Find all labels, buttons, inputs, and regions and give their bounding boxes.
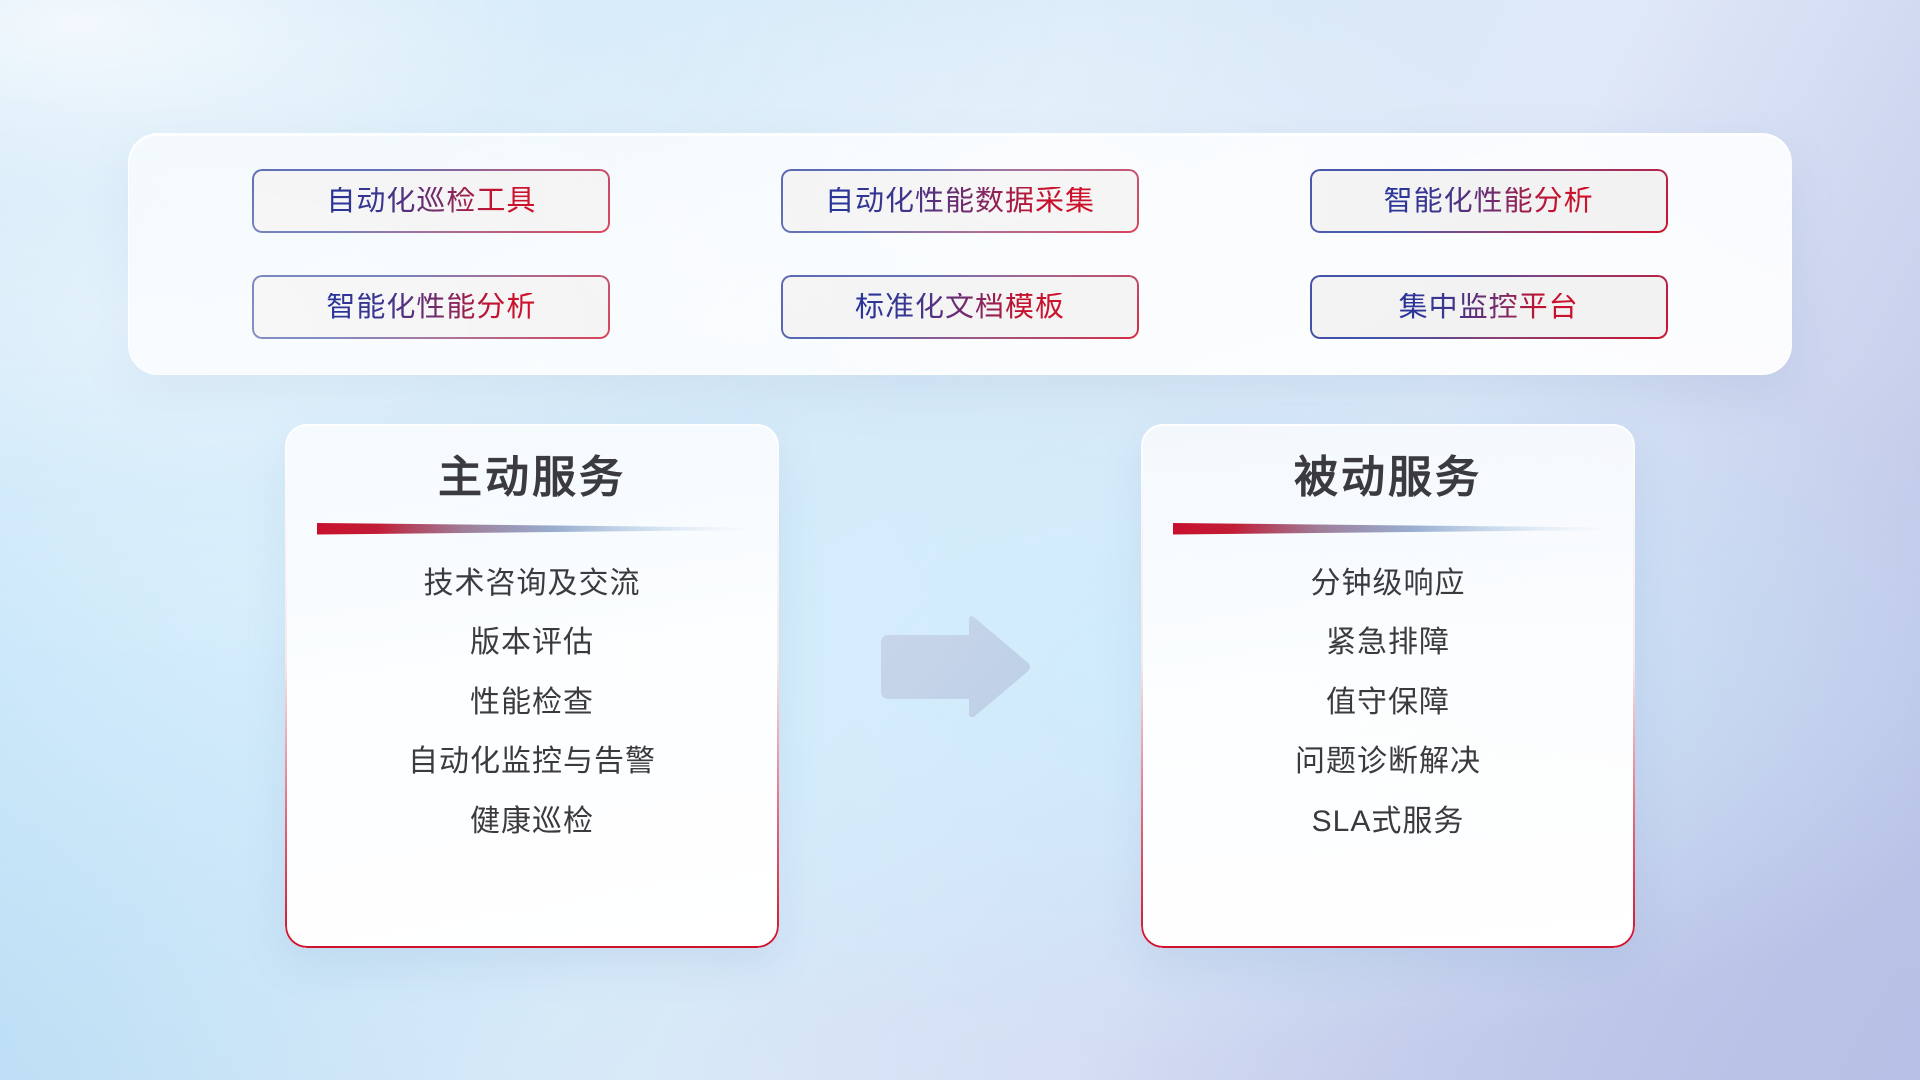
service-list: 分钟级响应 紧急排障 值守保障 问题诊断解决 SLA式服务	[1141, 565, 1635, 841]
panel-reactive-service: 被动服务	[1141, 424, 1635, 948]
flow-arrow-icon	[873, 613, 1033, 717]
list-item: 值守保障	[1326, 684, 1450, 722]
list-item: 技术咨询及交流	[424, 565, 641, 603]
service-list: 技术咨询及交流 版本评估 性能检查 自动化监控与告警 健康巡检	[285, 565, 779, 841]
title-underline-rule	[317, 521, 747, 537]
list-item: 分钟级响应	[1311, 565, 1466, 603]
capabilities-card: 自动化巡检工具 自动化性能数据采集 智能化性能分析 智能化性能分析 标准化文档模…	[128, 133, 1792, 375]
title-underline-rule	[1173, 521, 1603, 537]
capability-pill[interactable]: 自动化性能数据采集	[781, 169, 1139, 233]
list-item: 紧急排障	[1326, 624, 1450, 662]
list-item: 自动化监控与告警	[408, 743, 656, 781]
list-item: 健康巡检	[470, 803, 594, 841]
capability-pill[interactable]: 智能化性能分析	[1310, 169, 1668, 233]
list-item: 性能检查	[470, 684, 594, 722]
capability-pill-label: 智能化性能分析	[326, 293, 536, 322]
list-item: 版本评估	[470, 624, 594, 662]
list-item: 问题诊断解决	[1295, 743, 1481, 781]
capability-pill-label: 自动化性能数据采集	[825, 187, 1095, 216]
capability-pill-label: 标准化文档模板	[855, 293, 1065, 322]
capability-pill-label: 集中监控平台	[1399, 293, 1579, 322]
capability-pill[interactable]: 自动化巡检工具	[252, 169, 610, 233]
capability-pill[interactable]: 标准化文档模板	[781, 275, 1139, 339]
capability-pill-label: 自动化巡检工具	[326, 187, 536, 216]
capability-pill[interactable]: 智能化性能分析	[252, 275, 610, 339]
panel-title: 主动服务	[438, 452, 626, 505]
panel-title: 被动服务	[1294, 452, 1482, 505]
panel-proactive-service: 主动服务	[285, 424, 779, 948]
list-item: SLA式服务	[1312, 803, 1465, 841]
diagram-canvas: 自动化巡检工具 自动化性能数据采集 智能化性能分析 智能化性能分析 标准化文档模…	[0, 0, 1920, 1080]
capability-pill[interactable]: 集中监控平台	[1310, 275, 1668, 339]
capability-pill-label: 智能化性能分析	[1384, 187, 1594, 216]
